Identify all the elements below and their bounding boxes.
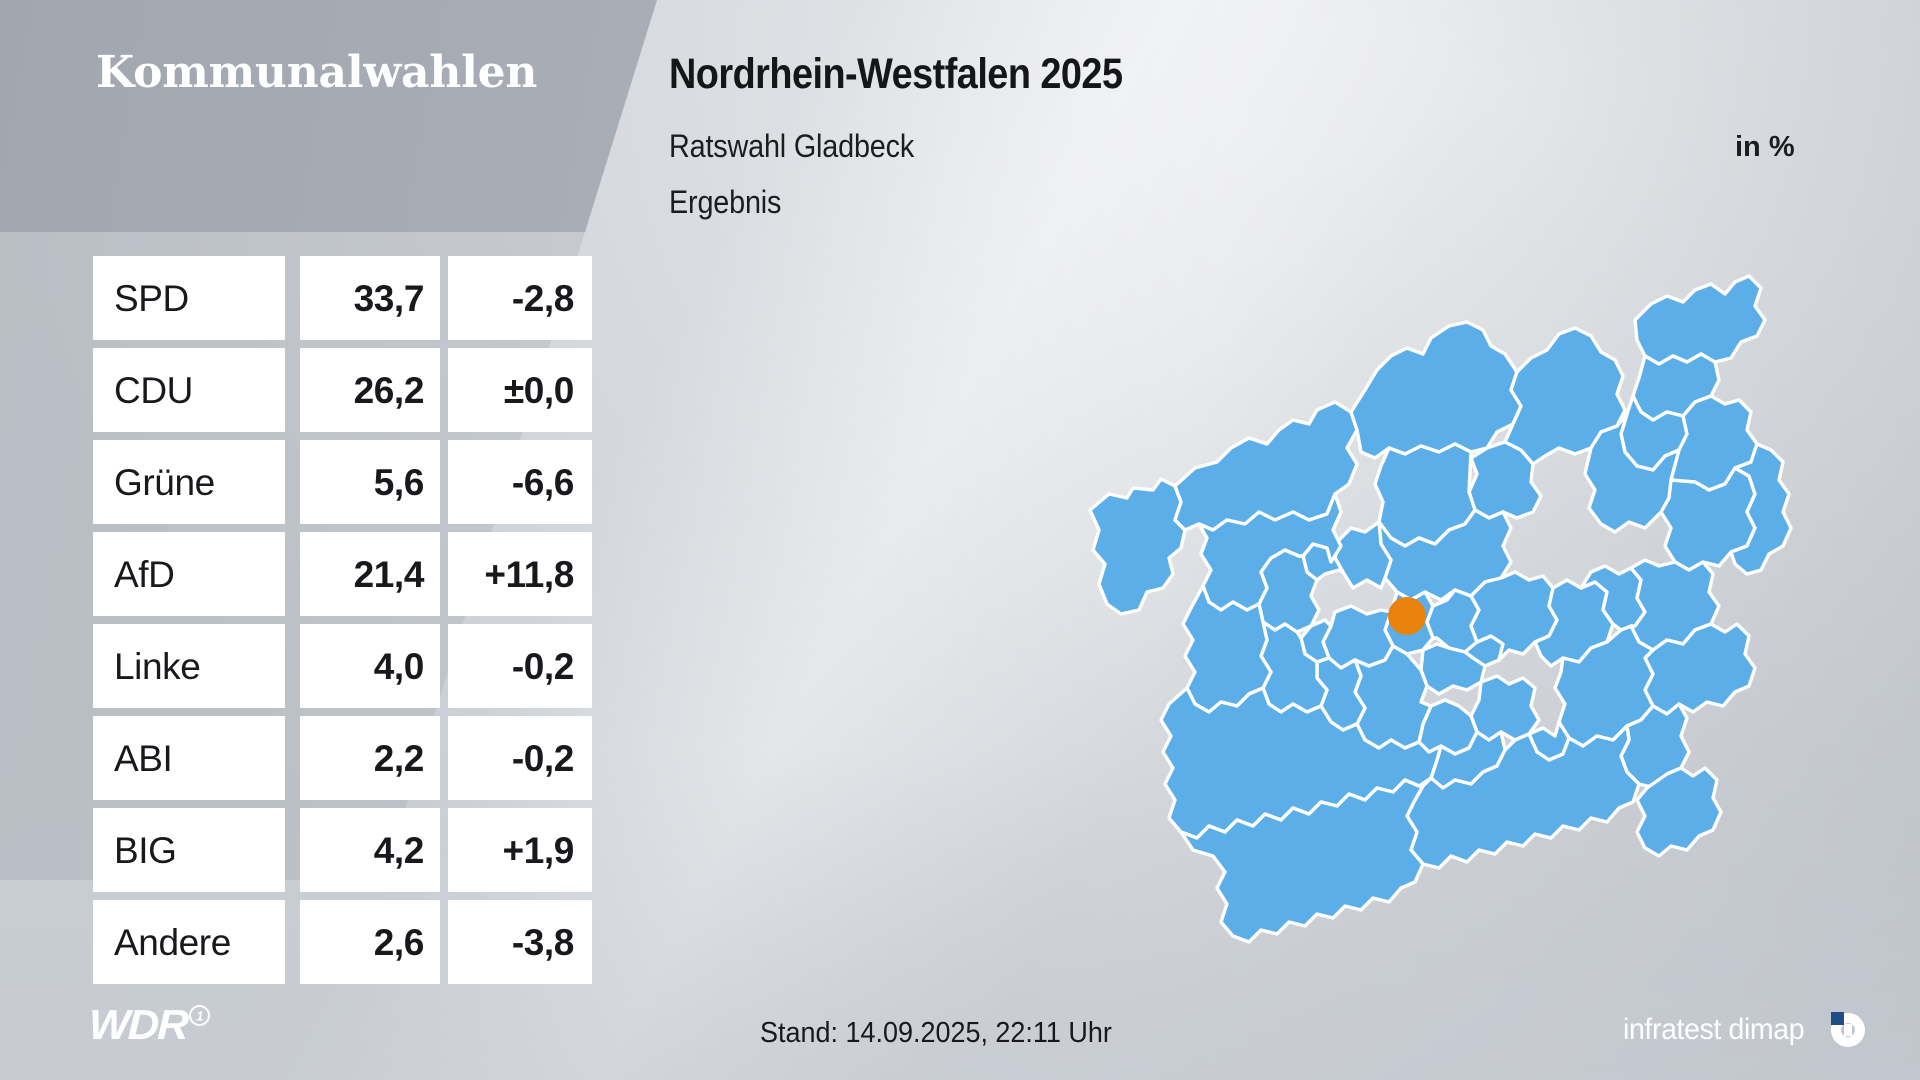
table-row: CDU 26,2 ±0,0 — [93, 348, 592, 432]
diff-cell: +11,8 — [448, 532, 592, 616]
party-cell: ABI — [93, 716, 285, 800]
party-label: SPD — [114, 280, 189, 317]
share-value: 2,2 — [374, 740, 424, 777]
diff-value: -2,8 — [512, 280, 574, 317]
party-cell: SPD — [93, 256, 285, 340]
panel-title: Kommunalwahlen — [96, 47, 537, 98]
diff-value: -3,8 — [512, 924, 574, 961]
table-row: Grüne 5,6 -6,6 — [93, 440, 592, 524]
share-value: 33,7 — [354, 280, 424, 317]
wdr-logo: WDR — [88, 1004, 210, 1046]
map-districts — [1090, 276, 1791, 942]
table-row: ABI 2,2 -0,2 — [93, 716, 592, 800]
share-cell: 2,6 — [300, 900, 440, 984]
share-value: 4,0 — [374, 648, 424, 685]
diff-value: +1,9 — [503, 832, 574, 869]
election-graphic: Kommunalwahlen Nordrhein-Westfalen 2025 … — [0, 0, 1920, 1080]
party-cell: Andere — [93, 900, 285, 984]
party-cell: Grüne — [93, 440, 285, 524]
election-subtitle: Ratswahl Gladbeck — [669, 128, 914, 165]
table-row: Andere 2,6 -3,8 — [93, 900, 592, 984]
share-cell: 33,7 — [300, 256, 440, 340]
party-label: BIG — [114, 832, 177, 869]
diff-value: -0,2 — [512, 648, 574, 685]
diff-cell: -3,8 — [448, 900, 592, 984]
diff-value: -6,6 — [512, 464, 574, 501]
wdr-wordmark: WDR — [88, 1004, 188, 1046]
result-subtitle: Ergebnis — [669, 184, 781, 221]
party-label: Andere — [114, 924, 231, 961]
location-marker-gladbeck — [1388, 597, 1426, 635]
diff-cell: -0,2 — [448, 624, 592, 708]
share-value: 26,2 — [354, 372, 424, 409]
dimap-ring-icon — [1828, 1010, 1868, 1050]
party-label: AfD — [114, 556, 174, 593]
share-value: 2,6 — [374, 924, 424, 961]
party-cell: AfD — [93, 532, 285, 616]
share-value: 21,4 — [354, 556, 424, 593]
infratest-dimap-logo: infratest dimap — [1623, 1010, 1868, 1050]
party-label: CDU — [114, 372, 193, 409]
left-panel — [0, 0, 700, 232]
share-value: 4,2 — [374, 832, 424, 869]
party-label: ABI — [114, 740, 172, 777]
ard-circle-icon — [189, 1005, 210, 1026]
share-cell: 26,2 — [300, 348, 440, 432]
page-title: Nordrhein-Westfalen 2025 — [669, 50, 1122, 99]
nrw-map — [1035, 262, 1815, 962]
share-cell: 5,6 — [300, 440, 440, 524]
party-cell: CDU — [93, 348, 285, 432]
party-label: Grüne — [114, 464, 215, 501]
diff-cell: -6,6 — [448, 440, 592, 524]
diff-cell: ±0,0 — [448, 348, 592, 432]
party-cell: Linke — [93, 624, 285, 708]
unit-label: in % — [1735, 131, 1795, 164]
diff-value: -0,2 — [512, 740, 574, 777]
party-cell: BIG — [93, 808, 285, 892]
diff-cell: -0,2 — [448, 716, 592, 800]
diff-value: ±0,0 — [504, 372, 574, 409]
table-row: Linke 4,0 -0,2 — [93, 624, 592, 708]
table-row: AfD 21,4 +11,8 — [93, 532, 592, 616]
share-cell: 4,2 — [300, 808, 440, 892]
table-row: BIG 4,2 +1,9 — [93, 808, 592, 892]
share-cell: 21,4 — [300, 532, 440, 616]
share-cell: 2,2 — [300, 716, 440, 800]
table-row: SPD 33,7 -2,8 — [93, 256, 592, 340]
results-table: SPD 33,7 -2,8 CDU 26,2 ±0,0 Grüne 5,6 -6… — [93, 256, 592, 992]
diff-cell: -2,8 — [448, 256, 592, 340]
timestamp: Stand: 14.09.2025, 22:11 Uhr — [760, 1017, 1112, 1050]
diff-value: +11,8 — [484, 556, 574, 593]
share-cell: 4,0 — [300, 624, 440, 708]
party-label: Linke — [114, 648, 200, 685]
diff-cell: +1,9 — [448, 808, 592, 892]
infratest-dimap-wordmark: infratest dimap — [1623, 1015, 1804, 1045]
share-value: 5,6 — [374, 464, 424, 501]
